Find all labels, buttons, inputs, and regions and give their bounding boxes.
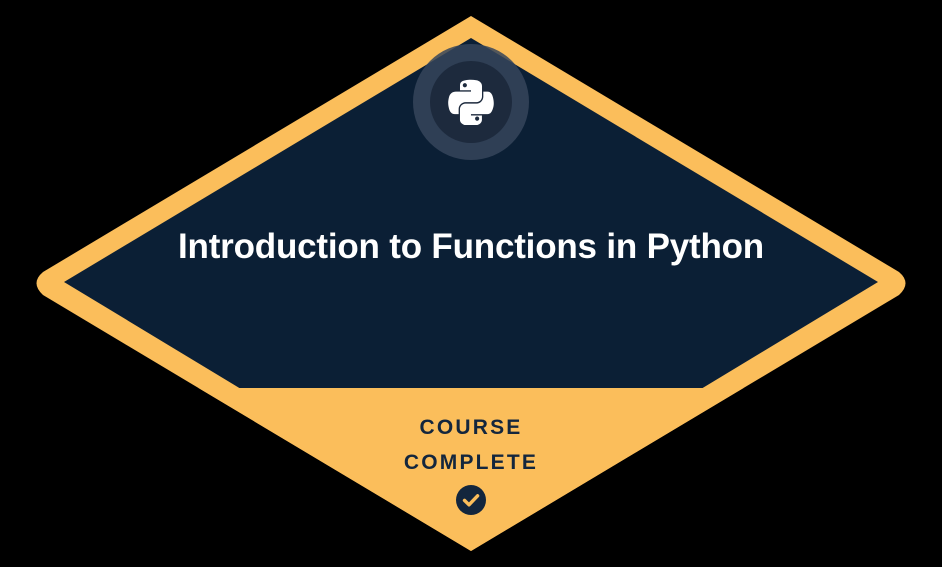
badge-lower-amber-panel: [0, 388, 942, 567]
course-completion-badge: Introduction to Functions in Python COUR…: [0, 0, 942, 567]
badge-diamond-shape: [0, 0, 942, 567]
